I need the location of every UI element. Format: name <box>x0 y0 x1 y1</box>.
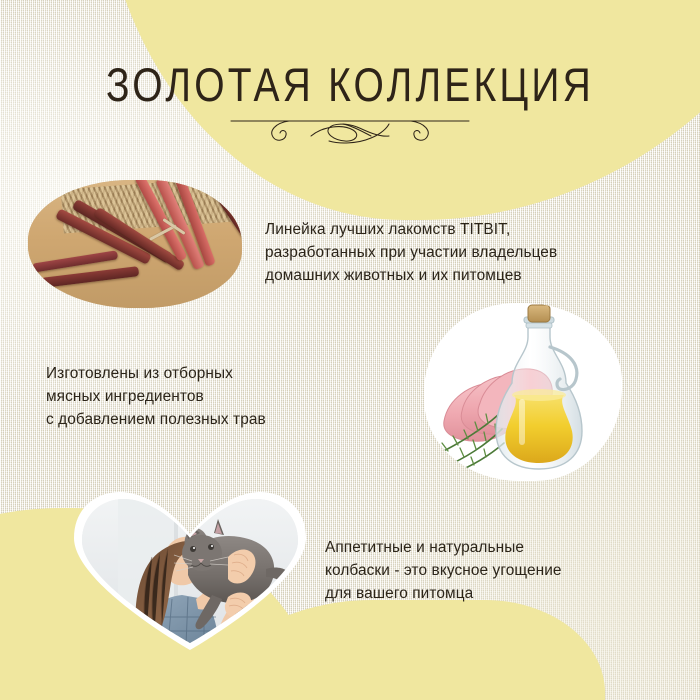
image-meat-and-oil <box>424 303 622 481</box>
woman-cat-illustration <box>78 495 302 645</box>
text-block-ingredients: Изготовлены из отборных мясных ингредиен… <box>46 362 366 431</box>
text-block-pet: Аппетитные и натуральные колбаски - это … <box>325 536 655 605</box>
heart-photo-content <box>78 495 302 645</box>
flourish-divider-icon <box>225 114 475 148</box>
page-title: ЗОЛОТАЯ КОЛЛЕКЦИЯ <box>0 62 700 110</box>
meat-oil-illustration <box>424 303 622 481</box>
oil-bottle <box>496 305 582 469</box>
text-block-sausages: Линейка лучших лакомств TITBIT, разработ… <box>265 218 655 287</box>
image-sausage-sticks <box>28 180 242 308</box>
title-block: ЗОЛОТАЯ КОЛЛЕКЦИЯ <box>0 62 700 148</box>
image-woman-with-cat <box>70 488 310 652</box>
poster-canvas: ЗОЛОТАЯ КОЛЛЕКЦИЯ <box>0 0 700 700</box>
